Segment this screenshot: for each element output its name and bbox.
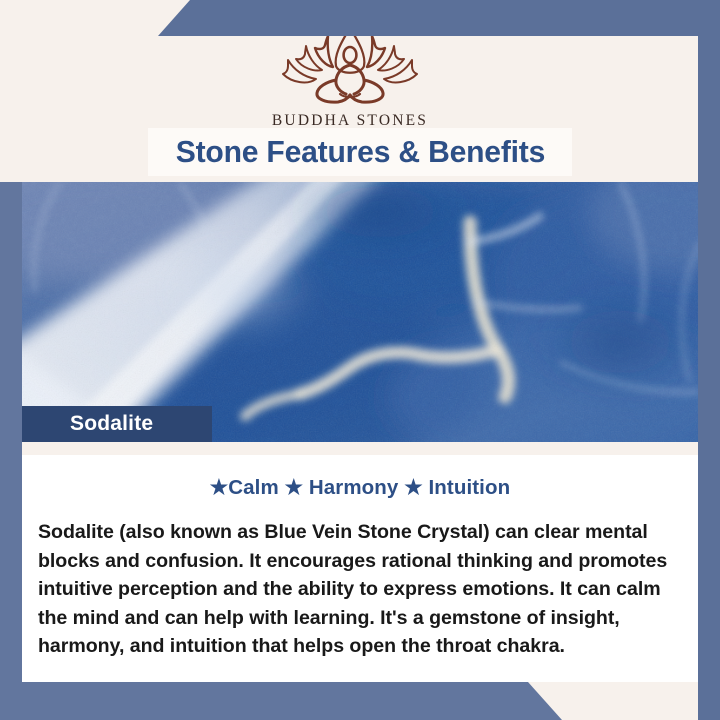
right-accent-bar (698, 0, 720, 720)
description-card: ★Calm ★ Harmony ★ Intuition Sodalite (al… (22, 455, 698, 682)
page-title: Stone Features & Benefits (175, 134, 544, 170)
brand-logo: BUDDHA STONES (0, 22, 700, 130)
page-title-band: Stone Features & Benefits (148, 128, 572, 176)
description-text: Sodalite (also known as Blue Vein Stone … (38, 518, 682, 661)
left-accent-bar (0, 182, 22, 682)
stone-photo (0, 182, 720, 442)
infographic-poster: BUDDHA STONES Stone Features & Benefits (0, 0, 720, 720)
stone-name: Sodalite (70, 412, 153, 436)
stone-name-label: Sodalite (22, 406, 212, 442)
keyword-list: ★Calm ★ Harmony ★ Intuition (22, 475, 698, 500)
